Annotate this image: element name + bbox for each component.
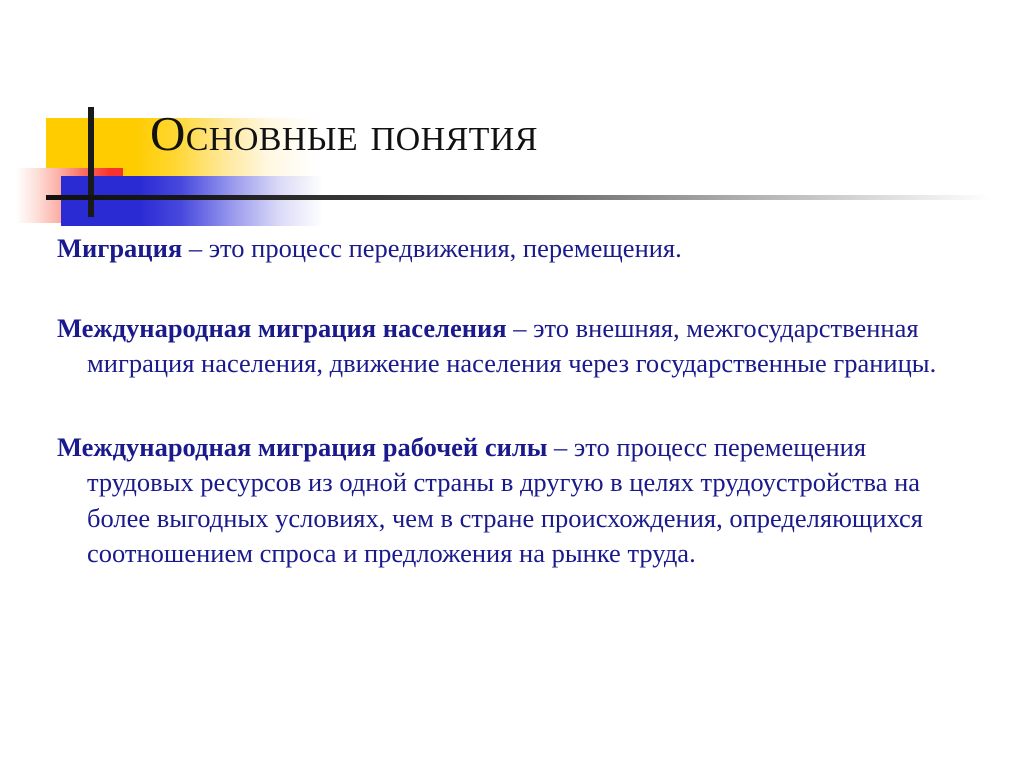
slide-title: Основные понятия <box>150 108 970 160</box>
decor-red-square-icon <box>16 168 123 223</box>
definition-term: Международная миграция населения <box>57 313 507 343</box>
definition-term: Миграция <box>57 233 182 263</box>
decor-horizontal-rule <box>46 195 991 200</box>
definition-paragraph-labour-migration: Международная миграция рабочей силы – эт… <box>57 430 977 572</box>
definition-text: – это процесс передвижения, перемещения. <box>182 233 682 263</box>
definition-paragraph-international-migration: Международная миграция населения – это в… <box>57 311 977 382</box>
slide-body: Миграция – это процесс передвижения, пер… <box>57 231 977 572</box>
decor-blue-square-icon <box>61 176 323 226</box>
decor-vertical-rule <box>88 107 94 217</box>
presentation-slide: Основные понятия Миграция – это процесс … <box>0 0 1024 767</box>
definition-paragraph-migration: Миграция – это процесс передвижения, пер… <box>57 231 977 267</box>
definition-term: Международная миграция рабочей силы <box>57 432 547 462</box>
